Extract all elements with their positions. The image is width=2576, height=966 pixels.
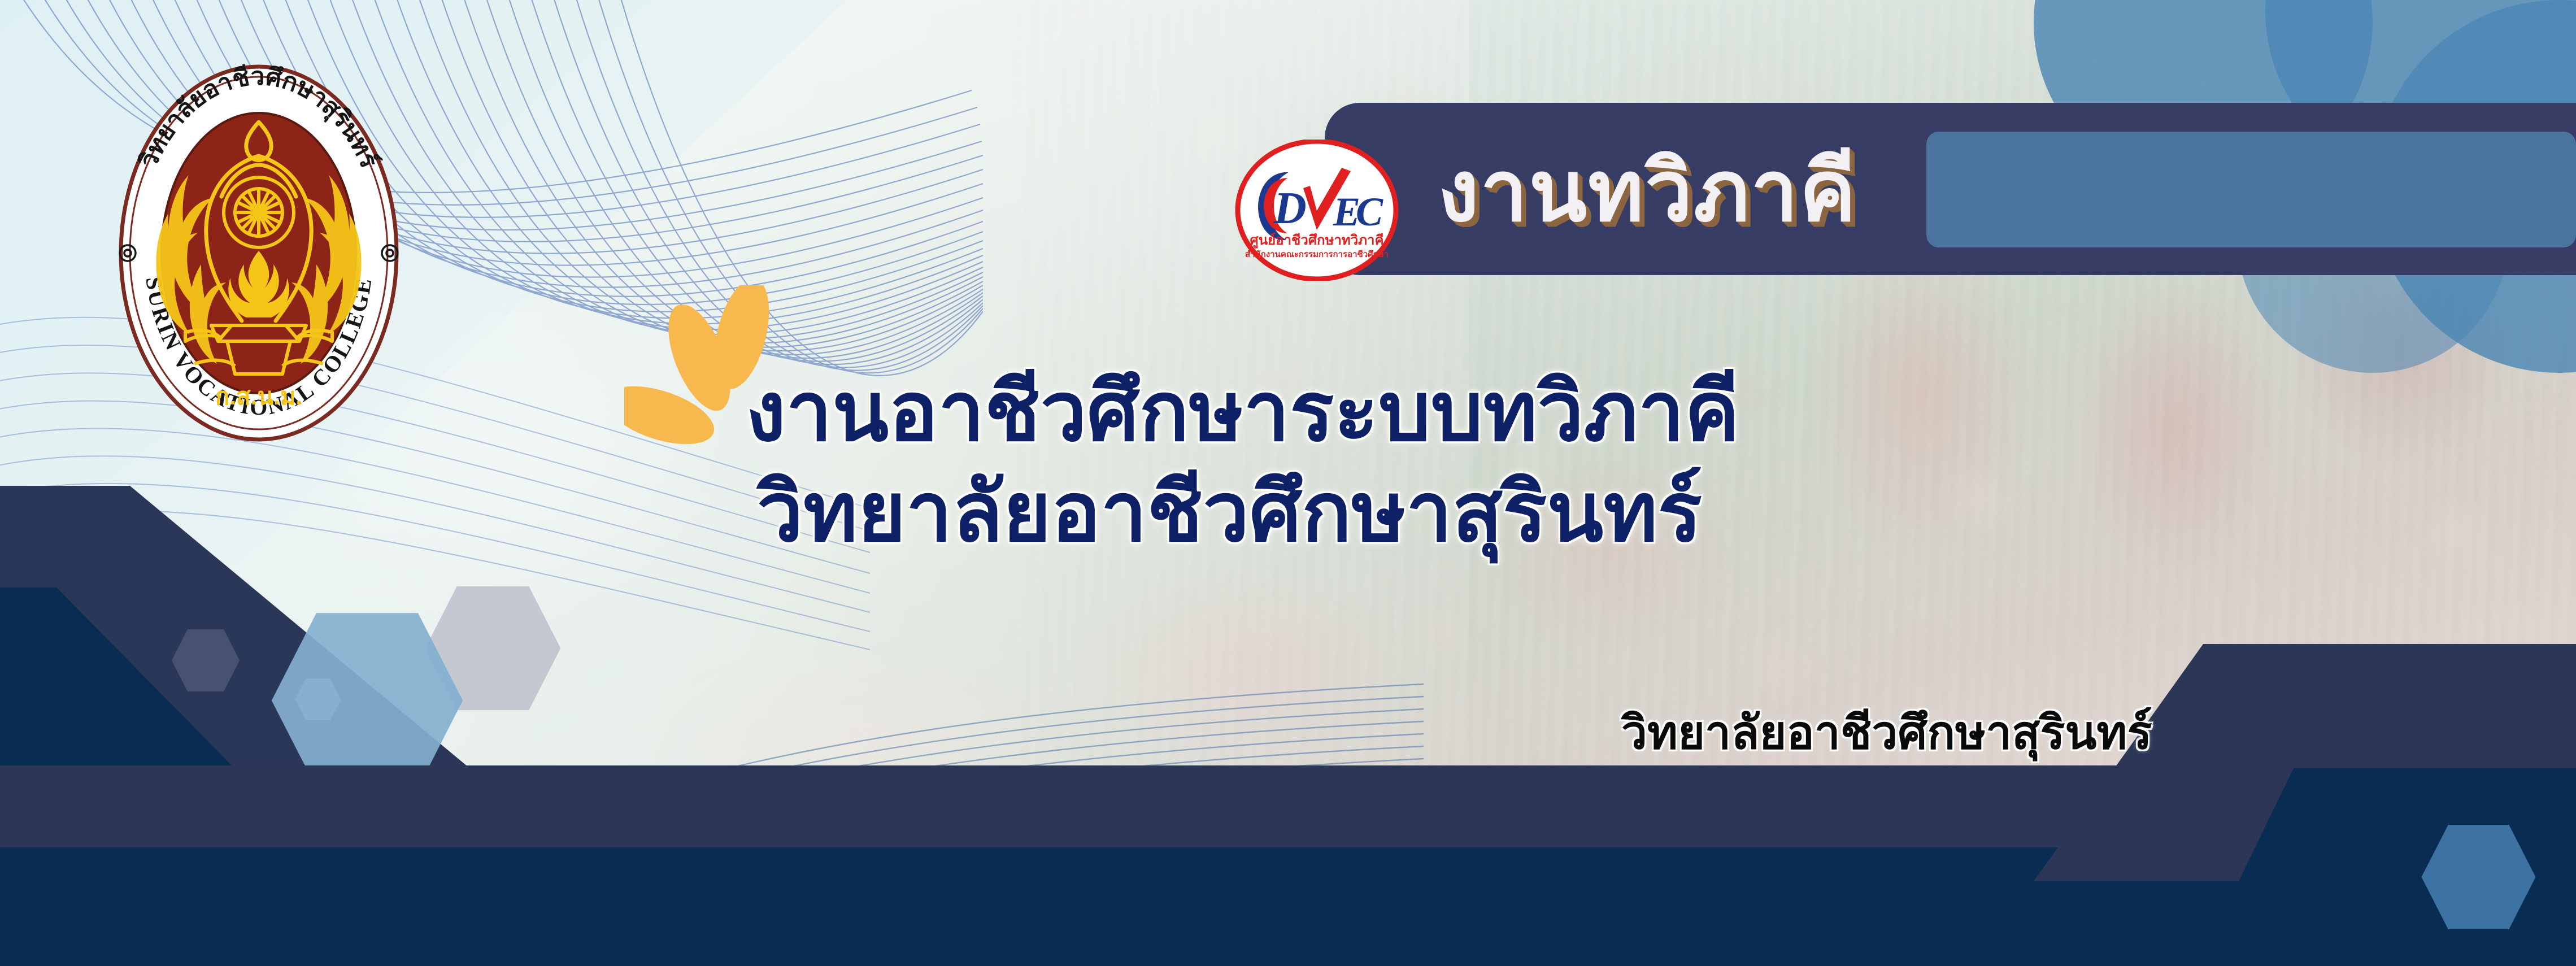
headline-line-2: วิทยาลัยอาชีวศึกษาสุรินทร์ [757,462,2440,563]
svg-text:ศูนย์อาชีวศึกษาทวิภาคี: ศูนย์อาชีวศึกษาทวิภาคี [1250,232,1383,249]
dvec-logo: D E C ศูนย์อาชีวศึกษาทวิภาคี สำนักงานคณะ… [1234,140,1399,281]
headline-block: งานอาชีวศึกษาระบบทวิภาคี วิทยาลัยอาชีวศึ… [746,362,2440,563]
headline-line-1: งานอาชีวศึกษาระบบทวิภาคี [746,362,2440,462]
seal-abbreviation: ก.ส.น.ม. [215,383,302,410]
svg-text:สำนักงานคณะกรรมการการอาชีวศึกษ: สำนักงานคณะกรรมการการอาชีวศึกษา [1245,249,1389,259]
banner-subtitle: วิทยาลัยอาชีวศึกษาสุรินทร์ [1621,696,2356,769]
svg-text:D: D [1273,184,1307,233]
surin-vocational-college-seal: วิทยาลัยอาชีวศึกษาสุรินทร์ SURIN VOCATIO… [101,27,417,446]
banner-canvas: งานทวิภาคี D E C ศูนย์อาชีวศึกษาทวิภาคี … [0,0,2576,966]
svg-text:C: C [1356,189,1383,234]
hexagon-blue-corner [2418,816,2539,938]
hexagon-slate-small [169,624,242,697]
top-banner-title: งานทวิภาคี [1438,106,2229,276]
